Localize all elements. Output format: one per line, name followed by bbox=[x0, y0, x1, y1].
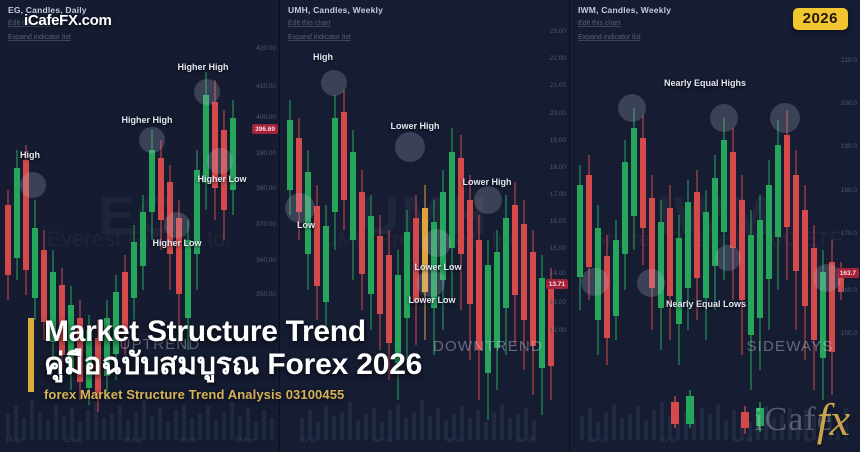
swing-marker bbox=[194, 79, 220, 105]
price-tick: 190.0 bbox=[841, 143, 857, 150]
last-price-badge-iwm: 163.7 bbox=[837, 268, 859, 278]
year-badge: 2026 bbox=[793, 8, 848, 30]
price-tick: 12.00 bbox=[550, 327, 566, 334]
price-tick: 14.00 bbox=[550, 270, 566, 277]
time-tick: Jul '23 bbox=[300, 438, 317, 444]
last-price-badge-umh: 13.71 bbox=[546, 279, 568, 289]
structure-label: Lower High bbox=[391, 121, 440, 131]
price-tick: 180.0 bbox=[841, 187, 857, 194]
time-tick: 03 Nov bbox=[235, 438, 254, 444]
structure-label: Higher Low bbox=[153, 238, 202, 248]
structure-label: Lower Low bbox=[415, 262, 462, 272]
price-axis-iwm[interactable]: 210.0 200.0 190.0 180.0 170.0 163.7 160.… bbox=[814, 0, 860, 452]
time-tick: 06 Oct bbox=[179, 438, 197, 444]
price-axis-umh[interactable]: 23.00 22.00 21.00 20.00 19.00 18.00 17.0… bbox=[523, 0, 569, 452]
swing-marker bbox=[285, 193, 315, 223]
time-axis-eg[interactable]: 14 Jul 11 Aug 08 Sep 06 Oct 03 Nov bbox=[0, 438, 279, 450]
price-tick: 21.00 bbox=[550, 82, 566, 89]
structure-label: Higher High bbox=[122, 115, 173, 125]
swing-marker bbox=[710, 104, 738, 132]
price-tick: 17.00 bbox=[550, 191, 566, 198]
time-tick: 14 Jul bbox=[6, 438, 22, 444]
swing-marker bbox=[20, 172, 46, 198]
time-tick: Jan '23 bbox=[588, 438, 607, 444]
edit-chart-link-iwm[interactable]: Edit this chart bbox=[578, 20, 620, 27]
site-logo: iCafeFX.com bbox=[24, 12, 112, 29]
time-tick: 11 Aug bbox=[64, 438, 82, 444]
time-tick: Jan '24 bbox=[733, 438, 752, 444]
price-tick: 200.0 bbox=[841, 100, 857, 107]
price-tick: 210.0 bbox=[841, 57, 857, 64]
page-title-line2: คู่มือฉบับสมบูรณ Forex 2026 bbox=[44, 348, 422, 382]
swing-marker bbox=[474, 186, 502, 214]
title-block: Market Structure Trend คู่มือฉบับสมบูรณ … bbox=[28, 316, 422, 402]
last-price-badge-eg: 396.69 bbox=[252, 124, 278, 134]
structure-label: Low bbox=[297, 220, 315, 230]
price-tick: 160.0 bbox=[841, 287, 857, 294]
price-tick: 22.00 bbox=[550, 55, 566, 62]
price-tick: 13.00 bbox=[550, 299, 566, 306]
swing-marker bbox=[321, 70, 347, 96]
price-tick: 400.00 bbox=[256, 114, 276, 121]
price-tick: 16.00 bbox=[550, 218, 566, 225]
price-tick: 390.00 bbox=[256, 150, 276, 157]
time-tick: 08 Sep bbox=[123, 438, 142, 444]
price-tick: 19.00 bbox=[550, 137, 566, 144]
time-tick: Jan '24 bbox=[373, 438, 392, 444]
price-tick: 350.00 bbox=[256, 291, 276, 298]
price-tick: 380.00 bbox=[256, 185, 276, 192]
brand-mark: iCafe fx bbox=[754, 393, 850, 446]
price-tick: 420.00 bbox=[256, 45, 276, 52]
swing-marker bbox=[417, 269, 445, 297]
time-tick: Jul '24 bbox=[446, 438, 463, 444]
time-axis-umh[interactable]: Jul '23 Jan '24 Jul '24 Jan '25 bbox=[280, 438, 569, 450]
expand-indicator-link-iwm[interactable]: Expand indicator list bbox=[578, 34, 641, 41]
price-tick: 15.00 bbox=[550, 245, 566, 252]
structure-label: Higher High bbox=[178, 62, 229, 72]
swing-marker bbox=[164, 212, 190, 238]
swing-marker bbox=[423, 229, 451, 257]
page-title-line1: Market Structure Trend bbox=[44, 316, 422, 348]
panel-header-umh: UMH, Candles, Weekly bbox=[288, 5, 383, 15]
chart-panel-iwm[interactable]: IWM, Candles, Weekly Edit this chart Exp… bbox=[570, 0, 860, 452]
swing-marker bbox=[395, 132, 425, 162]
swing-marker bbox=[139, 127, 165, 153]
expand-indicator-link-eg[interactable]: Expand indicator list bbox=[8, 34, 71, 41]
structure-label: Nearly Equal Lows bbox=[666, 299, 746, 309]
brand-fx-monogram: fx bbox=[817, 393, 850, 446]
time-tick: Jul '23 bbox=[660, 438, 677, 444]
time-tick: Jan '25 bbox=[516, 438, 535, 444]
structure-label: Lower High bbox=[463, 177, 512, 187]
swing-marker bbox=[715, 245, 741, 271]
swing-marker bbox=[770, 103, 800, 133]
price-tick: 410.00 bbox=[256, 83, 276, 90]
swing-marker bbox=[618, 94, 646, 122]
swing-marker bbox=[581, 268, 609, 296]
price-tick: 170.0 bbox=[841, 230, 857, 237]
price-tick: 18.00 bbox=[550, 164, 566, 171]
titles: Market Structure Trend คู่มือฉบับสมบูรณ … bbox=[28, 316, 422, 402]
price-tick: 150.0 bbox=[841, 330, 857, 337]
screenshot-root: EG, Candles, Daily Edit this chart Expan… bbox=[0, 0, 860, 452]
price-tick: 370.00 bbox=[256, 221, 276, 228]
edit-chart-link-umh[interactable]: Edit this chart bbox=[288, 20, 330, 27]
swing-marker bbox=[637, 269, 665, 297]
structure-label: High bbox=[313, 52, 333, 62]
price-tick: 23.00 bbox=[550, 28, 566, 35]
accent-bar bbox=[28, 318, 34, 392]
swing-marker bbox=[207, 148, 233, 174]
panel-header-iwm: IWM, Candles, Weekly bbox=[578, 5, 671, 15]
structure-label: High bbox=[20, 150, 40, 160]
price-tick: 20.00 bbox=[550, 110, 566, 117]
price-tick: 360.00 bbox=[256, 257, 276, 264]
expand-indicator-link-umh[interactable]: Expand indicator list bbox=[288, 34, 351, 41]
page-subtitle: forex Market Structure Trend Analysis 03… bbox=[44, 387, 422, 402]
structure-label: Lower Low bbox=[409, 295, 456, 305]
structure-label: Nearly Equal Highs bbox=[664, 78, 746, 88]
